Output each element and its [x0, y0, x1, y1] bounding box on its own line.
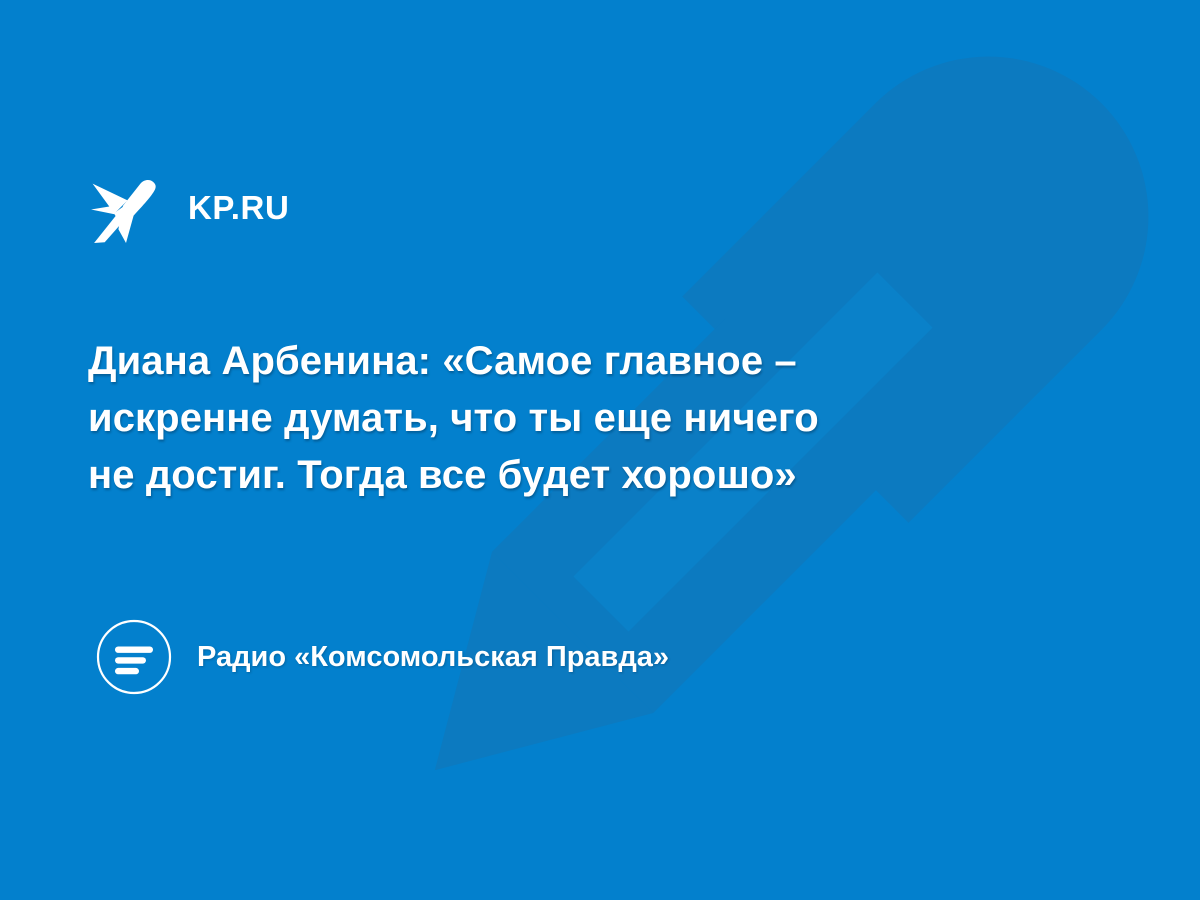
page-title: Диана Арбенина: «Самое главное – искренн… — [88, 333, 1018, 504]
category-label: Радио «Комсомольская Правда» — [197, 643, 669, 672]
headline-line-2: искренне думать, что ты еще ничего — [88, 390, 1018, 447]
swallow-bird-logo-icon — [88, 170, 164, 246]
headline-line-3: не достиг. Тогда все будет хорошо» — [88, 447, 1018, 504]
share-card: KP.RU Диана Арбенина: «Самое главное – и… — [0, 0, 1200, 900]
headline-line-1: Диана Арбенина: «Самое главное – — [88, 333, 1018, 390]
menu-lines-circle-icon[interactable] — [96, 619, 172, 695]
category-link[interactable]: Радио «Комсомольская Правда» — [96, 616, 669, 698]
brand-name: KP.RU — [188, 191, 289, 226]
brand-logo[interactable]: KP.RU — [88, 168, 289, 248]
